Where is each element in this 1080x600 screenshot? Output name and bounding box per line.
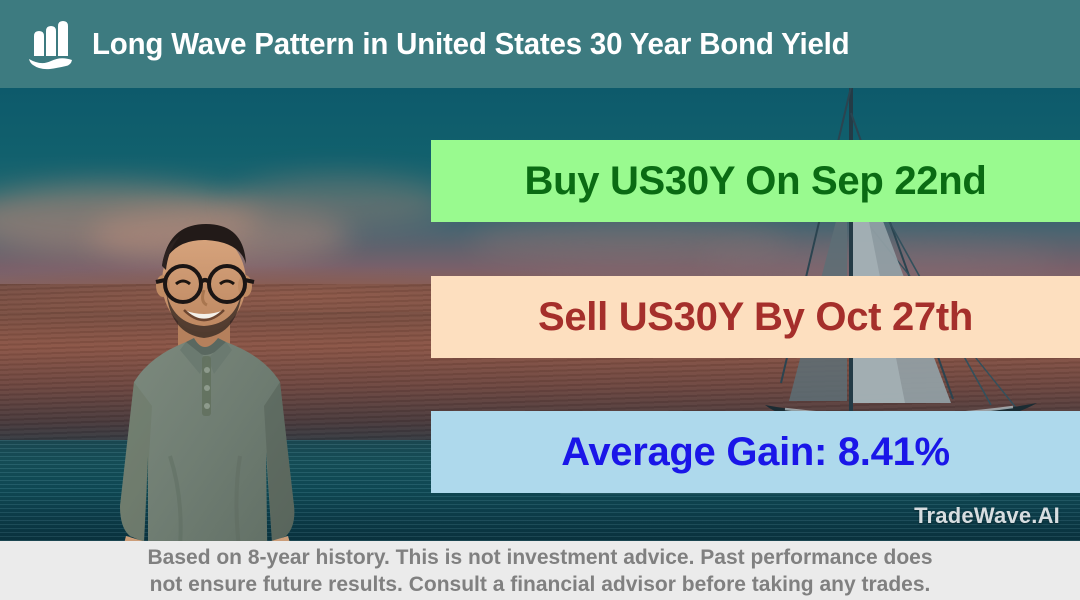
callout-average-gain-text: Average Gain: 8.41%	[561, 430, 950, 475]
tradewave-bars-wave-logo-icon	[22, 16, 78, 72]
disclaimer-line-2: not ensure future results. Consult a fin…	[150, 571, 931, 598]
disclaimer-footer: Based on 8-year history. This is not inv…	[0, 541, 1080, 600]
person-photo-icon	[90, 206, 320, 541]
callout-buy-signal-text: Buy US30Y On Sep 22nd	[524, 159, 986, 204]
callout-sell-signal: Sell US30Y By Oct 27th	[431, 276, 1080, 358]
seasonality-trade-poster: Long Wave Pattern in United States 30 Ye…	[0, 0, 1080, 600]
callout-buy-signal: Buy US30Y On Sep 22nd	[431, 140, 1080, 222]
watermark-brand: TradeWave.AI	[914, 503, 1060, 529]
header-bar: Long Wave Pattern in United States 30 Ye…	[0, 0, 1080, 88]
disclaimer-line-1: Based on 8-year history. This is not inv…	[147, 544, 932, 571]
callout-sell-signal-text: Sell US30Y By Oct 27th	[538, 295, 973, 340]
callout-average-gain: Average Gain: 8.41%	[431, 411, 1080, 493]
page-title: Long Wave Pattern in United States 30 Ye…	[92, 26, 849, 62]
